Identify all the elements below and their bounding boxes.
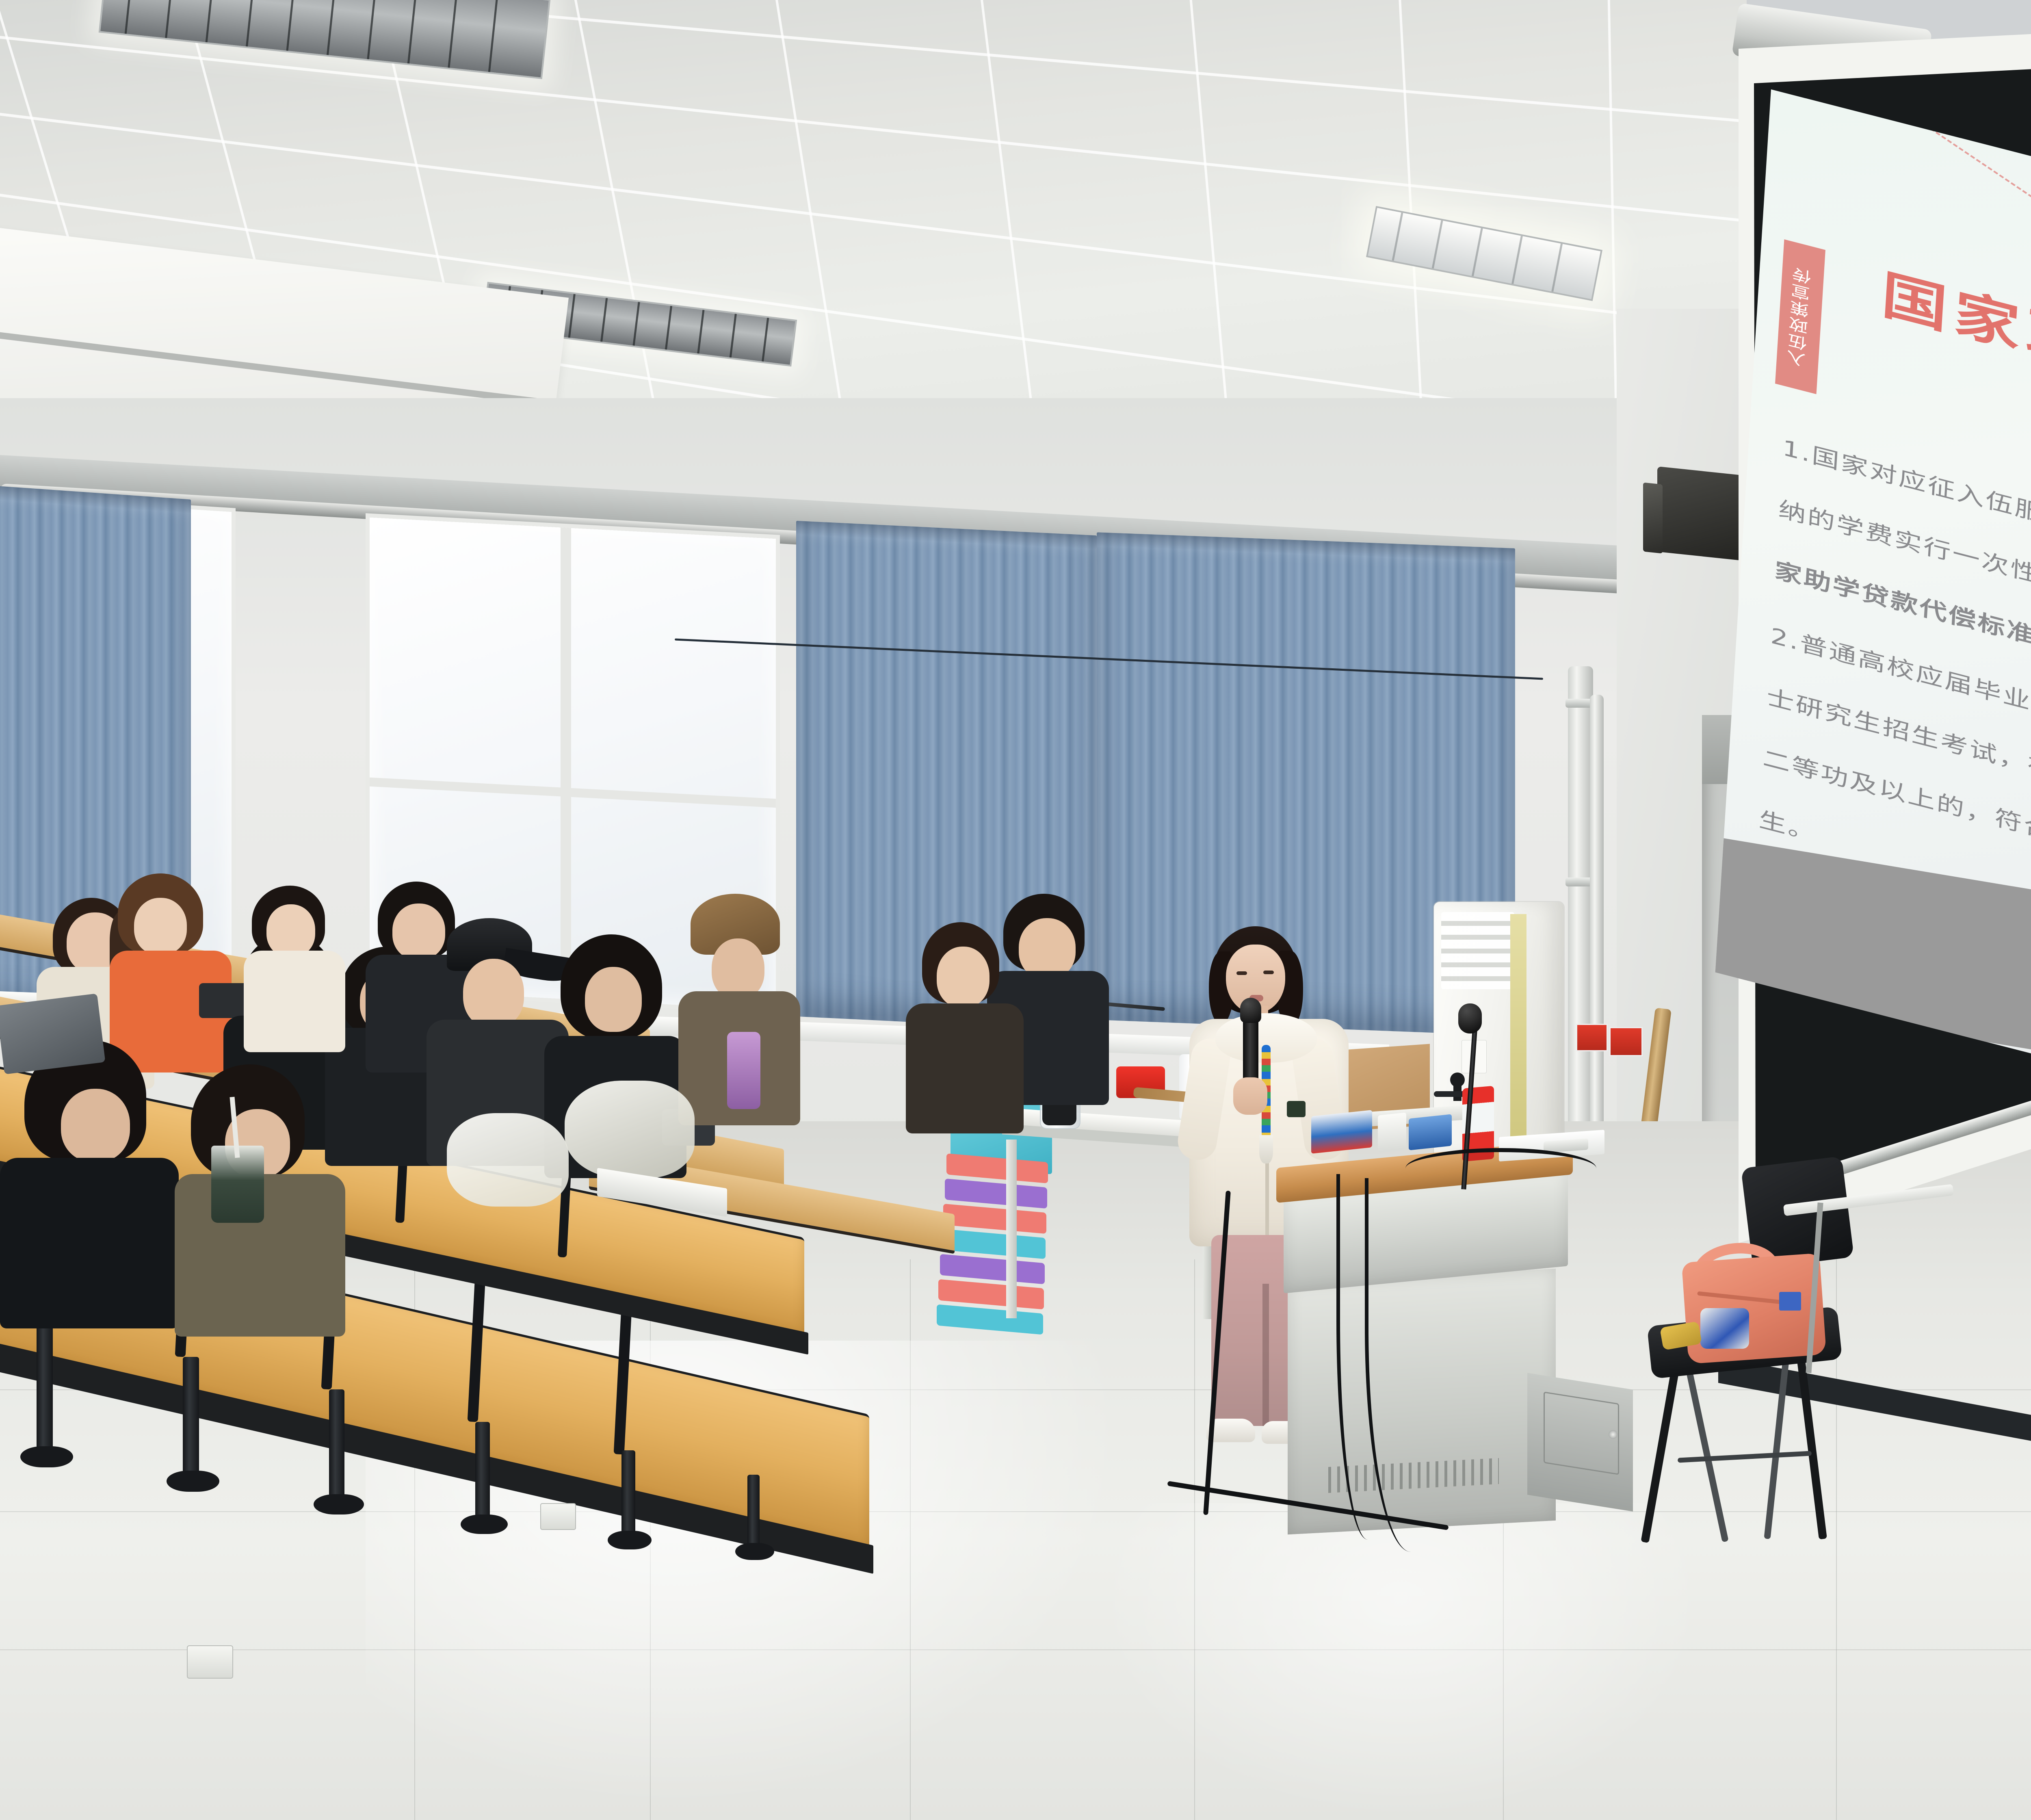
chair-crossbar: [1678, 1451, 1812, 1462]
presenter-hand: [1233, 1077, 1267, 1115]
lanyard-tassel: [1259, 1135, 1273, 1163]
folding-chair[interactable]: [1617, 1162, 1869, 1568]
wall-outlet[interactable]: [187, 1645, 233, 1679]
blue-box: [1409, 1114, 1452, 1150]
tablet[interactable]: [0, 993, 105, 1074]
fire-valve-box-1: [1576, 1024, 1608, 1051]
podium-cabinet-door[interactable]: [1544, 1391, 1619, 1475]
chair-leg-3: [1682, 1350, 1728, 1543]
smartphone[interactable]: [199, 983, 248, 1018]
chair-leg-2: [1796, 1353, 1827, 1539]
slide-title: 国家政策: [1879, 252, 2031, 401]
ceiling-light-fixture-1: [99, 0, 551, 79]
plastic-bag-1: [447, 1113, 569, 1207]
bag-contents: [1700, 1308, 1749, 1349]
presenter-jacket-badge: [1287, 1101, 1306, 1117]
vertical-pipe-1: [1568, 666, 1593, 1146]
slide-side-tab-label: 入伍政策宣传: [1784, 263, 1817, 370]
gooseneck-mic-head-icon: [1458, 1003, 1482, 1033]
wall-speaker-bracket: [1643, 482, 1663, 553]
paper-cup: [1378, 1112, 1406, 1153]
fire-valve-box-2: [1609, 1027, 1643, 1056]
ac-vent-grille: [1441, 912, 1514, 989]
tissue-box: [1311, 1110, 1372, 1154]
wall-outlet-2[interactable]: [540, 1503, 576, 1530]
water-bottle-purple: [727, 1032, 760, 1109]
vertical-pipe-3: [1590, 695, 1604, 1137]
microphone-head-icon: [1240, 998, 1261, 1023]
slide-side-tab: 入伍政策宣传: [1775, 239, 1825, 394]
lock-icon[interactable]: [1609, 1430, 1617, 1439]
bag-tag: [1779, 1292, 1801, 1311]
slide-line-7: 生。: [1758, 802, 1818, 847]
plastic-bag-2: [565, 1081, 695, 1178]
chair-leg-1: [1641, 1354, 1682, 1543]
presenter-pants-shadow: [1262, 1284, 1269, 1426]
lecture-hall-photo: 入伍政策宣传 国家政策 1.国家对应征入伍服义务兵役的高校学生，在入伍时对其在校…: [0, 0, 2031, 1820]
ac-side-stripe: [1510, 914, 1526, 1146]
